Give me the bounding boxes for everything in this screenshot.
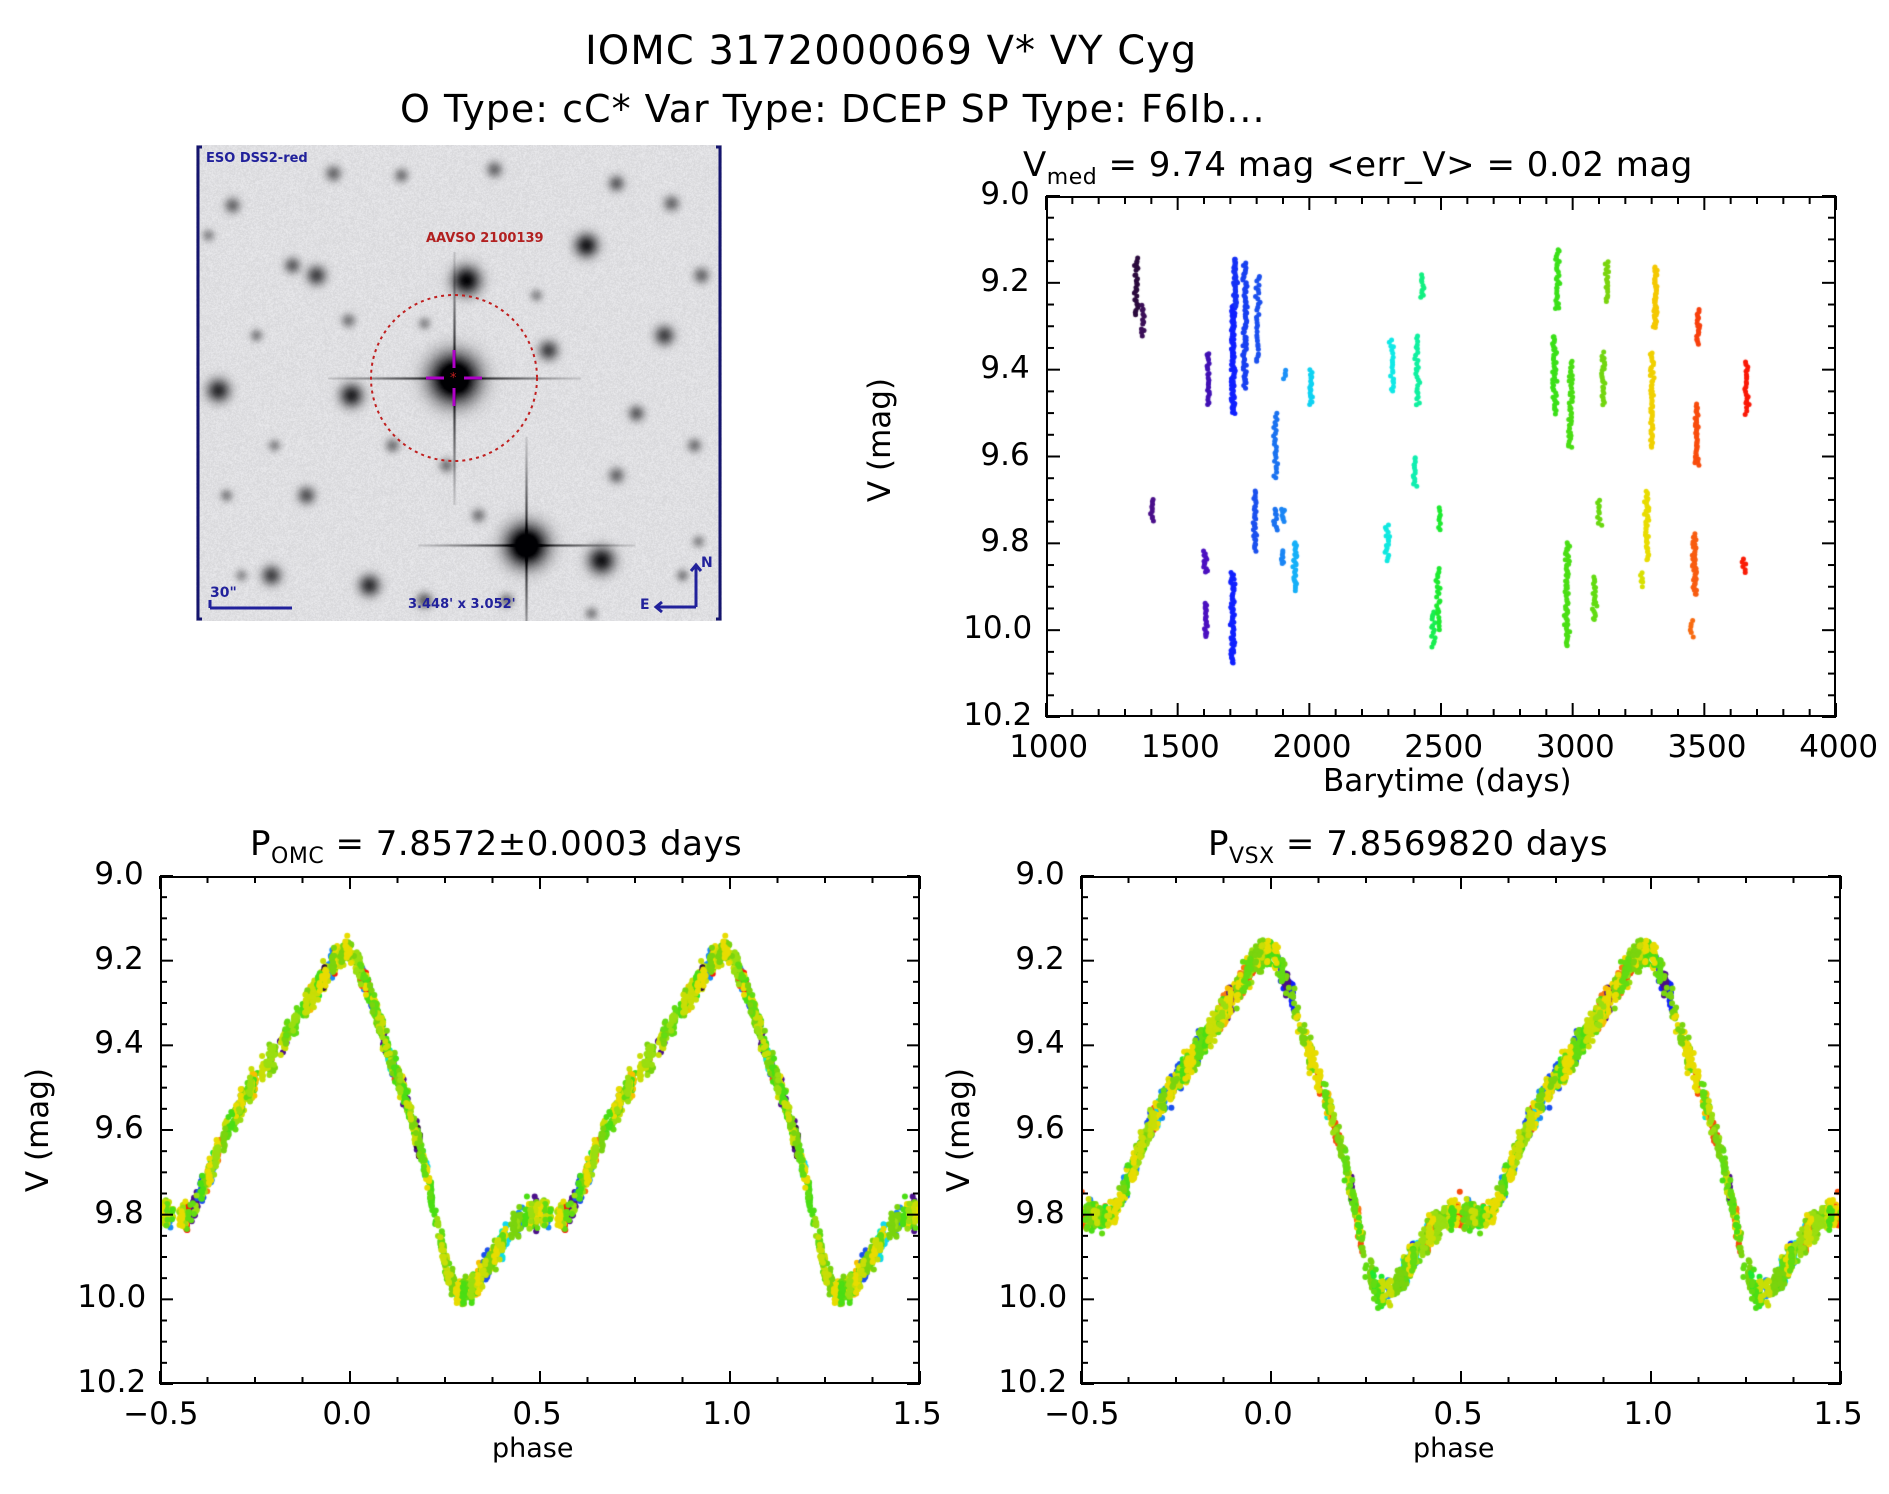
phase-omc-xtick-label: 0.0 bbox=[322, 1396, 371, 1432]
phase-omc-ytick-label: 10.2 bbox=[77, 1364, 146, 1400]
phase-vsx-title-subscript: VSX bbox=[1229, 844, 1275, 869]
phase-omc-title-subscript: OMC bbox=[271, 844, 324, 869]
phase-vsx-xtick-label: 0.5 bbox=[1433, 1396, 1482, 1432]
lightcurve-ytick-label: 9.6 bbox=[980, 437, 1029, 473]
phase-omc-xtick-label: −0.5 bbox=[123, 1396, 198, 1432]
lightcurve-xtick-label: 1500 bbox=[1141, 729, 1220, 765]
phase-vsx-axes-frame bbox=[1081, 876, 1841, 1384]
compass-east-label: E bbox=[640, 597, 650, 613]
phase-vsx-xtick-label: 1.0 bbox=[1623, 1396, 1672, 1432]
phase-vsx-ytick-label: 9.0 bbox=[1015, 856, 1064, 892]
frame-right-bracket bbox=[716, 147, 720, 619]
target-marker: * bbox=[450, 371, 457, 386]
phase-vsx-ytick-label: 9.2 bbox=[1015, 941, 1064, 977]
lightcurve-axes-frame bbox=[1046, 196, 1836, 717]
frame-left-bracket bbox=[198, 147, 202, 619]
lightcurve-xaxis-title: Barytime (days) bbox=[1323, 763, 1572, 799]
phase-omc-ytick-label: 10.0 bbox=[77, 1279, 146, 1315]
lightcurve-ytick-label: 9.4 bbox=[980, 350, 1029, 386]
phase-vsx-title: PVSX = 7.8569820 days bbox=[1208, 824, 1608, 869]
phase-omc-data-canvas bbox=[162, 878, 918, 1382]
lightcurve-ytick-label: 9.2 bbox=[980, 263, 1029, 299]
lightcurve-ytick-label: 9.8 bbox=[980, 523, 1029, 559]
phase-vsx-xaxis-title: phase bbox=[1413, 1433, 1494, 1464]
phase-omc-xtick-label: 1.0 bbox=[702, 1396, 751, 1432]
lightcurve-ytick-label: 10.0 bbox=[963, 610, 1032, 646]
lightcurve-ytick-label: 9.0 bbox=[980, 176, 1029, 212]
page-title: IOMC 3172000069 V* VY Cyg bbox=[585, 28, 1197, 74]
object-id-label: AAVSO 2100139 bbox=[426, 231, 544, 246]
phase-omc-ytick-label: 9.6 bbox=[94, 1110, 143, 1146]
phase-vsx-ytick-label: 10.2 bbox=[998, 1364, 1067, 1400]
phase-omc-xtick-label: 0.5 bbox=[512, 1396, 561, 1432]
phase-vsx-ytick-label: 9.4 bbox=[1015, 1025, 1064, 1061]
phase-omc-xtick-label: 1.5 bbox=[892, 1396, 941, 1432]
lightcurve-title-prefix: V bbox=[1023, 145, 1047, 185]
phase-omc-yaxis-title: V (mag) bbox=[20, 1068, 56, 1192]
phase-vsx-ytick-label: 9.6 bbox=[1015, 1110, 1064, 1146]
phase-omc-xaxis-title: phase bbox=[492, 1433, 573, 1464]
lightcurve-title: Vmed = 9.74 mag <err_V> = 0.02 mag bbox=[1023, 145, 1693, 190]
lightcurve-xtick-label: 4000 bbox=[1799, 729, 1878, 765]
lightcurve-xtick-label: 2500 bbox=[1404, 729, 1483, 765]
phase-omc-title-rest: = 7.8572±0.0003 days bbox=[324, 824, 742, 864]
phase-vsx-xtick-label: 1.5 bbox=[1813, 1396, 1862, 1432]
phase-vsx-ytick-label: 9.8 bbox=[1015, 1195, 1064, 1231]
field-size-label: 3.448' x 3.052' bbox=[408, 597, 516, 612]
phase-vsx-xtick-label: 0.0 bbox=[1243, 1396, 1292, 1432]
phase-omc-ytick-label: 9.0 bbox=[94, 856, 143, 892]
phase-vsx-title-rest: = 7.8569820 days bbox=[1275, 824, 1609, 864]
phase-vsx-xtick-label: −0.5 bbox=[1044, 1396, 1119, 1432]
phase-vsx-yaxis-title: V (mag) bbox=[941, 1068, 977, 1192]
figure-root: IOMC 3172000069 V* VY Cyg O Type: cC* Va… bbox=[0, 0, 1889, 1494]
survey-label: ESO DSS2-red bbox=[206, 151, 308, 166]
lightcurve-xtick-label: 1000 bbox=[1009, 729, 1088, 765]
compass-north-label: N bbox=[701, 555, 713, 571]
lightcurve-ytick-label: 10.2 bbox=[963, 697, 1032, 733]
phase-vsx-data-canvas bbox=[1083, 878, 1839, 1382]
sky-image-overlay: * bbox=[196, 145, 722, 621]
lightcurve-title-subscript: med bbox=[1047, 165, 1097, 190]
phase-vsx-ytick-label: 10.0 bbox=[998, 1279, 1067, 1315]
lightcurve-xtick-label: 2000 bbox=[1273, 729, 1352, 765]
lightcurve-xtick-label: 3500 bbox=[1668, 729, 1747, 765]
phase-omc-ytick-label: 9.2 bbox=[94, 941, 143, 977]
phase-omc-ytick-label: 9.4 bbox=[94, 1025, 143, 1061]
phase-vsx-title-prefix: P bbox=[1208, 824, 1229, 864]
lightcurve-yaxis-title: V (mag) bbox=[862, 378, 898, 502]
page-subtitle: O Type: cC* Var Type: DCEP SP Type: F6Ib… bbox=[400, 87, 1266, 131]
sky-image-panel[interactable]: * ESO DSS2-red AAVSO 2100139 30" 3.448' … bbox=[196, 145, 722, 621]
lightcurve-xtick-label: 3000 bbox=[1536, 729, 1615, 765]
phase-omc-axes-frame bbox=[160, 876, 920, 1384]
scale-bar-label: 30" bbox=[210, 585, 237, 601]
lightcurve-data-canvas bbox=[1048, 198, 1834, 715]
phase-omc-title: POMC = 7.8572±0.0003 days bbox=[250, 824, 742, 869]
phase-omc-ytick-label: 9.8 bbox=[94, 1195, 143, 1231]
lightcurve-title-rest: = 9.74 mag <err_V> = 0.02 mag bbox=[1097, 145, 1693, 185]
phase-omc-title-prefix: P bbox=[250, 824, 271, 864]
